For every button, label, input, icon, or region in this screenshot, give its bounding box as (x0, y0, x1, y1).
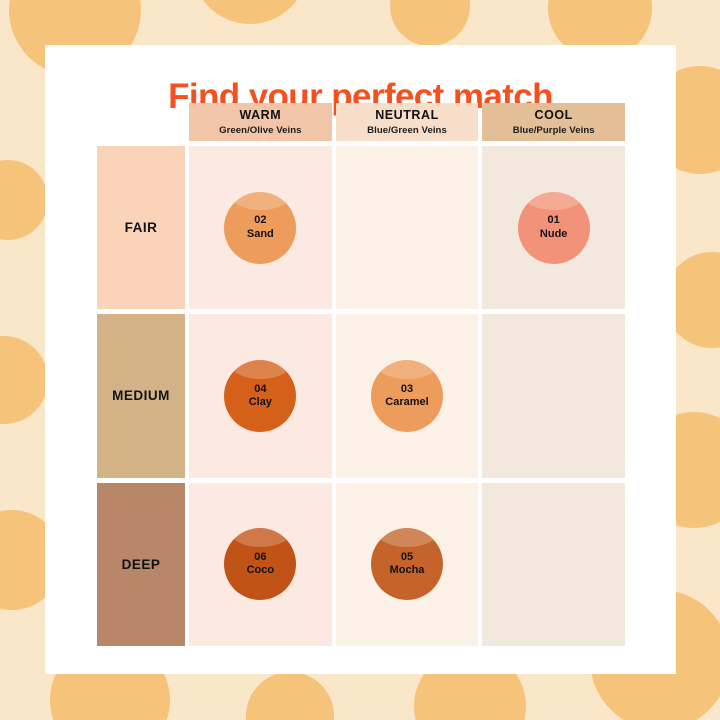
background-dot (390, 0, 470, 46)
background-dot (0, 160, 48, 240)
column-header-warm: WARMGreen/Olive Veins (189, 103, 332, 141)
matrix-cell-fair-neutral (336, 146, 479, 309)
matrix-cell-fair-cool: 01Nude (482, 146, 625, 309)
matrix-grid: WARMGreen/Olive VeinsNEUTRALBlue/Green V… (97, 103, 625, 646)
column-header-subtitle: Green/Olive Veins (219, 125, 301, 136)
shade-code: 05 (401, 551, 413, 564)
row-header-medium: MEDIUM (97, 314, 185, 477)
shade-code: 04 (254, 383, 266, 396)
matrix-cell-deep-neutral: 05Mocha (336, 483, 479, 646)
background-dot (192, 0, 308, 24)
shade-finder-card: Find your perfect match WARMGreen/Olive … (45, 45, 676, 674)
shade-swatch-nude[interactable]: 01Nude (518, 192, 590, 264)
row-header-fair: FAIR (97, 146, 185, 309)
matrix-cell-deep-warm: 06Coco (189, 483, 332, 646)
column-header-title: COOL (535, 108, 573, 123)
shade-code: 01 (548, 214, 560, 227)
shade-name: Clay (249, 396, 272, 409)
column-header-title: WARM (239, 108, 281, 123)
shade-code: 02 (254, 214, 266, 227)
shade-name: Sand (247, 228, 274, 241)
column-header-title: NEUTRAL (375, 108, 439, 123)
matrix-cell-medium-cool (482, 314, 625, 477)
column-header-cool: COOLBlue/Purple Veins (482, 103, 625, 141)
shade-code: 06 (254, 551, 266, 564)
shade-swatch-clay[interactable]: 04Clay (224, 360, 296, 432)
background-dot (246, 672, 334, 720)
shade-match-matrix: WARMGreen/Olive VeinsNEUTRALBlue/Green V… (97, 103, 625, 646)
matrix-cell-medium-warm: 04Clay (189, 314, 332, 477)
matrix-cell-fair-warm: 02Sand (189, 146, 332, 309)
background-dot (0, 336, 48, 424)
shade-swatch-sand[interactable]: 02Sand (224, 192, 296, 264)
matrix-cell-deep-cool (482, 483, 625, 646)
column-header-subtitle: Blue/Purple Veins (513, 125, 595, 136)
shade-name: Nude (540, 228, 568, 241)
shade-swatch-mocha[interactable]: 05Mocha (371, 528, 443, 600)
shade-swatch-caramel[interactable]: 03Caramel (371, 360, 443, 432)
shade-code: 03 (401, 383, 413, 396)
matrix-corner-blank (97, 103, 185, 141)
shade-name: Caramel (385, 396, 428, 409)
row-header-deep: DEEP (97, 483, 185, 646)
column-header-neutral: NEUTRALBlue/Green Veins (336, 103, 479, 141)
shade-name: Coco (247, 564, 275, 577)
shade-swatch-coco[interactable]: 06Coco (224, 528, 296, 600)
column-header-subtitle: Blue/Green Veins (367, 125, 447, 136)
matrix-cell-medium-neutral: 03Caramel (336, 314, 479, 477)
shade-name: Mocha (390, 564, 425, 577)
